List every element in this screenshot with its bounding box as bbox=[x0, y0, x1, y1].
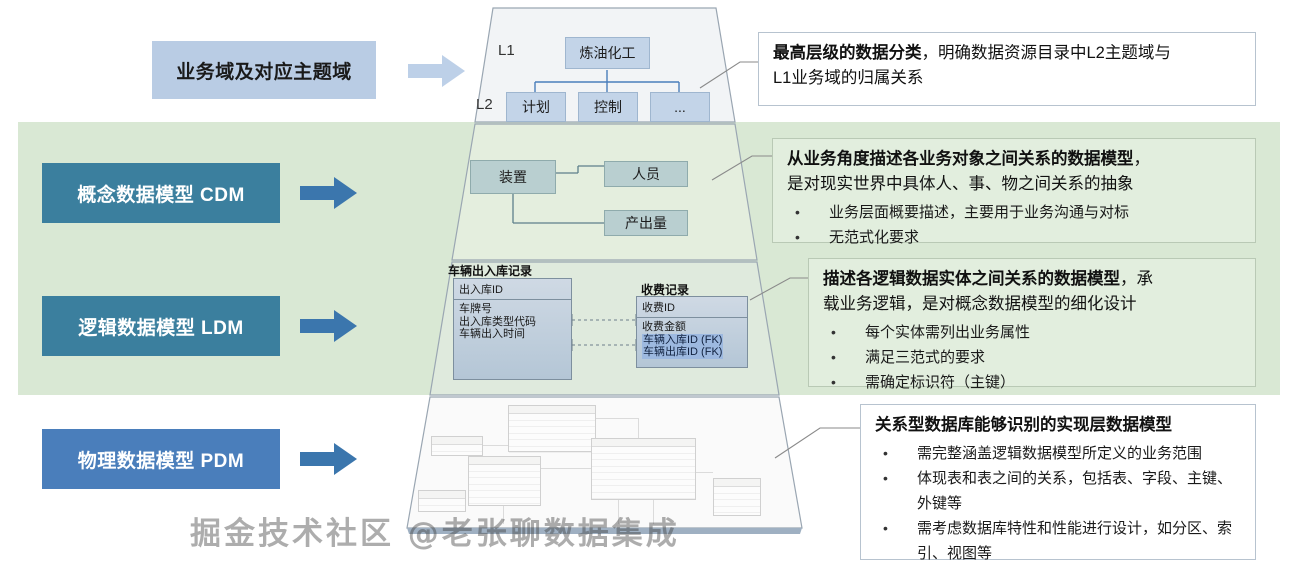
arrow-business-domain-icon bbox=[408, 54, 466, 88]
ldm-entity-1-attr-0: 车牌号 bbox=[459, 303, 566, 316]
callout-ldm-bullet-0: 每个实体需列出业务属性 bbox=[823, 320, 1243, 345]
diagram-canvas: 业务域及对应主题域 概念数据模型 CDM 逻辑数据模型 LDM 物理数据模型 P… bbox=[0, 0, 1294, 564]
callout-ldm[interactable]: 描述各逻辑数据实体之间关系的数据模型，承 载业务逻辑，是对概念数据模型的细化设计… bbox=[808, 258, 1256, 387]
callout-l1l2[interactable]: 最高层级的数据分类，明确数据资源目录中L2主题域与 L1业务域的归属关系 bbox=[758, 32, 1256, 106]
callout-ldm-bullet-1: 满足三范式的要求 bbox=[823, 345, 1243, 370]
tier-label-l1: L1 bbox=[498, 42, 515, 59]
label-business-domain[interactable]: 业务域及对应主题域 bbox=[152, 41, 376, 99]
ldm-entity-1-attr-2: 车辆出入时间 bbox=[459, 328, 566, 341]
ldm-entity-2-pk: 收费ID bbox=[637, 297, 747, 318]
callout-ldm-subtitle: 载业务逻辑，是对概念数据模型的细化设计 bbox=[823, 293, 1243, 316]
ldm-entity-toll-record[interactable]: 收费ID 收费金额 车辆入库ID (FK) 车辆出库ID (FK) bbox=[636, 296, 748, 368]
callout-cdm-subtitle: 是对现实世界中具体人、事、物之间关系的抽象 bbox=[787, 173, 1243, 196]
arrow-ldm-icon bbox=[300, 309, 358, 343]
ldm-entity-title-1: 车辆出入库记录 bbox=[448, 262, 532, 279]
callout-pdm-bullet-0: 需完整涵盖逻辑数据模型所定义的业务范围 bbox=[875, 441, 1243, 466]
node-l2-more[interactable]: ... bbox=[650, 92, 710, 122]
ldm-entity-2-attr-0: 收费金额 bbox=[642, 321, 742, 334]
watermark: 掘金技术社区 @老张聊数据集成 bbox=[190, 508, 1110, 553]
ldm-entity-2-attributes: 收费金额 车辆入库ID (FK) 车辆出库ID (FK) bbox=[637, 318, 747, 362]
callout-cdm-title: 从业务角度描述各业务对象之间关系的数据模型， bbox=[787, 148, 1243, 171]
callout-cdm-bullets: 业务层面概要描述，主要用于业务沟通与对标 无范式化要求 bbox=[787, 200, 1243, 250]
callout-l1l2-subtitle: L1业务域的归属关系 bbox=[773, 67, 1243, 90]
node-cdm-equipment[interactable]: 装置 bbox=[470, 160, 556, 194]
callout-l1l2-title: 最高层级的数据分类，明确数据资源目录中L2主题域与 bbox=[773, 42, 1243, 65]
node-cdm-personnel[interactable]: 人员 bbox=[604, 161, 688, 187]
ldm-entity-1-attr-1: 出入库类型代码 bbox=[459, 316, 566, 329]
callout-cdm-bullet-0: 业务层面概要描述，主要用于业务沟通与对标 bbox=[787, 200, 1243, 225]
callout-cdm-bullet-1: 无范式化要求 bbox=[787, 225, 1243, 250]
label-cdm[interactable]: 概念数据模型 CDM bbox=[42, 163, 280, 223]
ldm-entity-1-attributes: 车牌号 出入库类型代码 车辆出入时间 bbox=[454, 300, 571, 344]
node-l2-control[interactable]: 控制 bbox=[578, 92, 638, 122]
callout-pdm-title: 关系型数据库能够识别的实现层数据模型 bbox=[875, 414, 1243, 437]
node-l2-plan[interactable]: 计划 bbox=[506, 92, 566, 122]
node-l1-refining[interactable]: 炼油化工 bbox=[565, 37, 650, 69]
callout-cdm[interactable]: 从业务角度描述各业务对象之间关系的数据模型， 是对现实世界中具体人、事、物之间关… bbox=[772, 138, 1256, 243]
tier-label-l2: L2 bbox=[476, 96, 493, 113]
label-ldm[interactable]: 逻辑数据模型 LDM bbox=[42, 296, 280, 356]
ldm-entity-1-pk: 出入库ID bbox=[454, 279, 571, 300]
arrow-pdm-icon bbox=[300, 442, 358, 476]
node-cdm-output[interactable]: 产出量 bbox=[604, 210, 688, 236]
callout-ldm-bullets: 每个实体需列出业务属性 满足三范式的要求 需确定标识符（主键） bbox=[823, 320, 1243, 395]
ldm-entity-2-fk-0: 车辆入库ID (FK) bbox=[642, 334, 723, 347]
pdm-erd-diagram bbox=[413, 400, 848, 525]
label-pdm[interactable]: 物理数据模型 PDM bbox=[42, 429, 280, 489]
ldm-entity-2-fk-1: 车辆出库ID (FK) bbox=[642, 346, 723, 359]
ldm-entity-vehicle-record[interactable]: 出入库ID 车牌号 出入库类型代码 车辆出入时间 bbox=[453, 278, 572, 380]
arrow-cdm-icon bbox=[300, 176, 358, 210]
callout-ldm-bullet-2: 需确定标识符（主键） bbox=[823, 370, 1243, 395]
callout-ldm-title: 描述各逻辑数据实体之间关系的数据模型，承 bbox=[823, 268, 1243, 291]
